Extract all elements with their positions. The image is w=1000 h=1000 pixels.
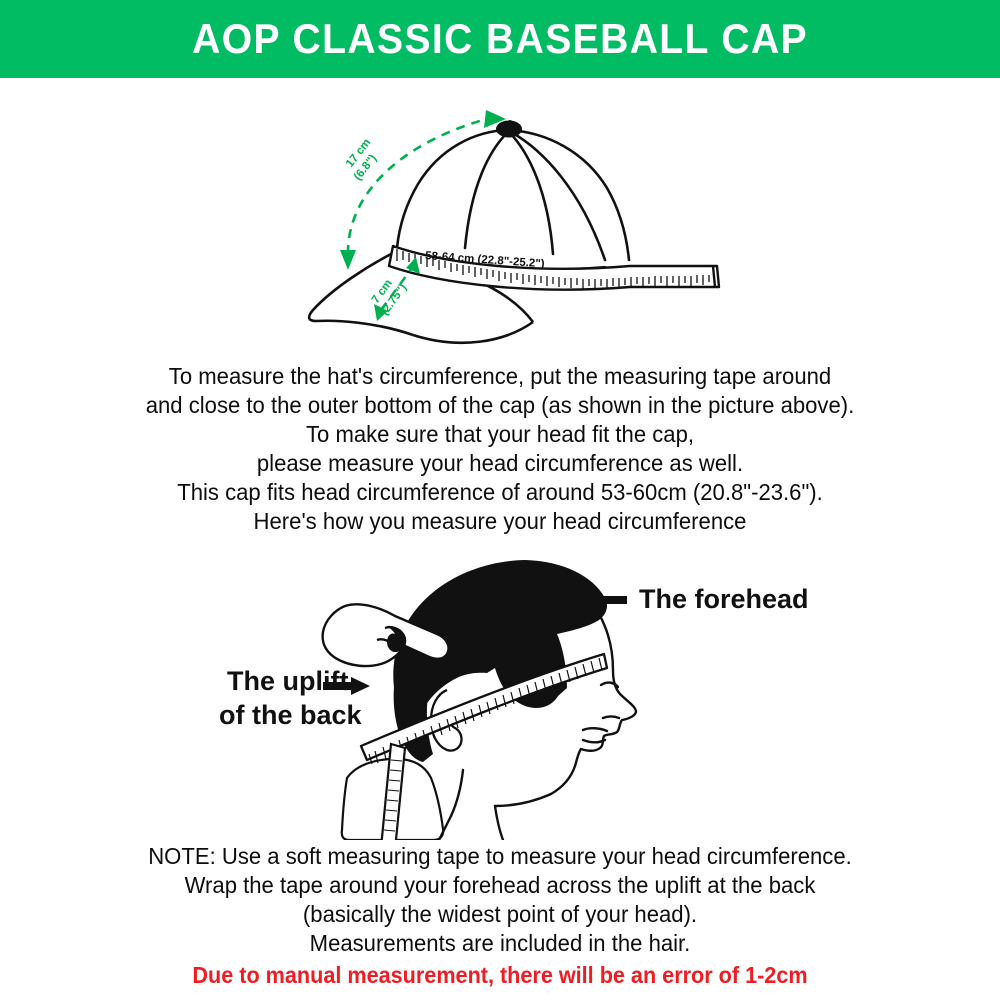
note-line: Wrap the tape around your forehead acros… [30, 871, 970, 900]
header-banner: AOP CLASSIC BASEBALL CAP [0, 0, 1000, 78]
page-title: AOP CLASSIC BASEBALL CAP [192, 15, 808, 63]
instruction-line: To make sure that your head fit the cap, [30, 420, 970, 449]
instruction-line: To measure the hat's circumference, put … [30, 362, 970, 391]
cap-measurement-diagram: 58-64 cm (22.8"-25.2") 17 cm (6.8") 7 cm… [285, 88, 745, 348]
crown-arrowhead-bottom [340, 250, 356, 270]
note-line: (basically the widest point of your head… [30, 900, 970, 929]
measurement-warning: Due to manual measurement, there will be… [30, 961, 970, 990]
forehead-label: The forehead [639, 584, 809, 614]
instruction-line: This cap fits head circumference of arou… [30, 478, 970, 507]
instructions-block: To measure the hat's circumference, put … [0, 362, 1000, 536]
note-line: Measurements are included in the hair. [30, 929, 970, 958]
instruction-line: please measure your head circumference a… [30, 449, 970, 478]
note-block: NOTE: Use a soft measuring tape to measu… [0, 842, 1000, 990]
instruction-line: and close to the outer bottom of the cap… [30, 391, 970, 420]
uplift-label-line1: The uplift [227, 666, 348, 696]
uplift-label-line2: of the back [219, 700, 363, 730]
cap-outline [397, 130, 629, 270]
note-line: NOTE: Use a soft measuring tape to measu… [30, 842, 970, 871]
instruction-line: Here's how you measure your head circumf… [30, 507, 970, 536]
cap-button [496, 121, 522, 138]
head-measurement-diagram: The forehead The uplift of the back [195, 548, 825, 840]
